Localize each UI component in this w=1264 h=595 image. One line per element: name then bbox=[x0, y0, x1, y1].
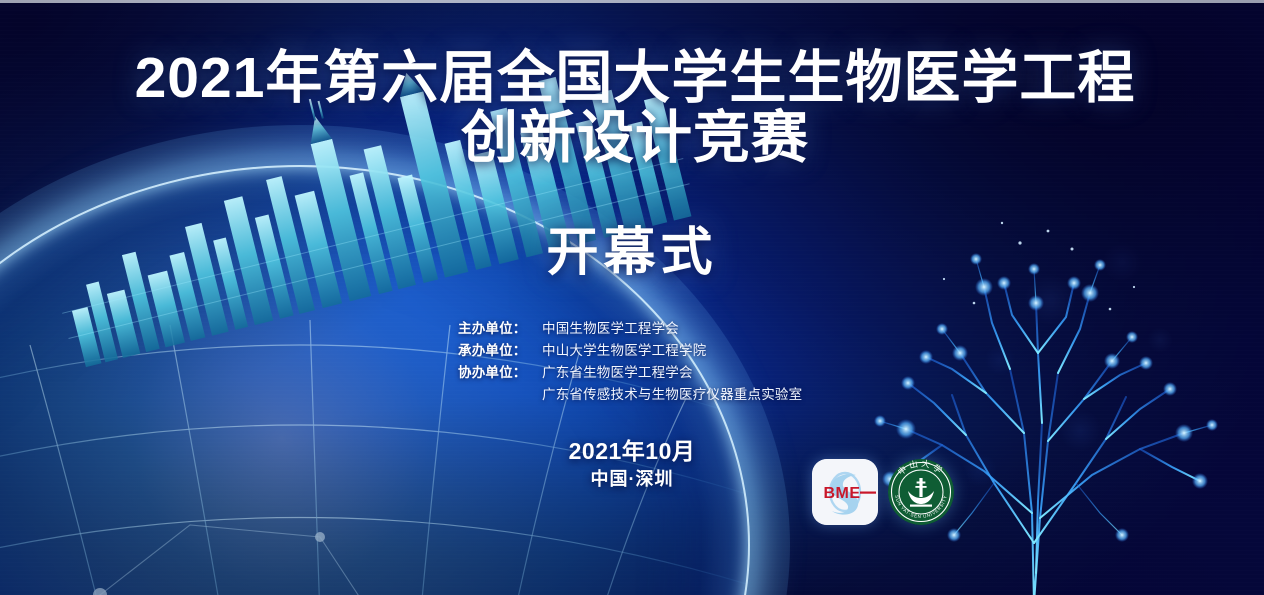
svg-text:BME: BME bbox=[823, 485, 860, 502]
event-place: 中国·深圳 bbox=[0, 466, 1264, 492]
bme-logo: BME bbox=[812, 459, 878, 525]
logo-group: BME 中山大学 SUN YAT-SEN UNIVERSITY bbox=[812, 459, 954, 525]
organizer-value-undertaker: 中山大学生物医学工程学院 bbox=[542, 340, 706, 361]
organizer-row-coorganizer-second: 广东省传感技术与生物医疗仪器重点实验室 bbox=[458, 384, 806, 405]
organizer-row-coorganizer: 协办单位： 广东省生物医学工程学会 bbox=[458, 362, 806, 383]
event-poster: 2021年第六届全国大学生生物医学工程 创新设计竞赛 开幕式 主办单位： 中国生… bbox=[0, 0, 1264, 595]
organizer-value-coorganizer-second: 广东省传感技术与生物医疗仪器重点实验室 bbox=[542, 384, 802, 405]
organizer-value-host: 中国生物医学工程学会 bbox=[542, 318, 679, 339]
organizer-label-undertaker: 承办单位： bbox=[458, 340, 542, 361]
title-line-2: 创新设计竞赛 bbox=[0, 108, 1264, 168]
organizer-label-host: 主办单位： bbox=[458, 318, 542, 339]
organizer-value-coorganizer: 广东省生物医学工程学会 bbox=[542, 362, 693, 383]
event-date: 2021年10月 bbox=[0, 437, 1264, 466]
organizer-row-host: 主办单位： 中国生物医学工程学会 bbox=[458, 318, 806, 339]
top-edge-strip bbox=[0, 0, 1264, 3]
poster-title: 2021年第六届全国大学生生物医学工程 创新设计竞赛 bbox=[0, 48, 1264, 168]
organizer-label-coorganizer: 协办单位： bbox=[458, 362, 542, 383]
poster-subtitle: 开幕式 bbox=[0, 222, 1264, 284]
organizer-list: 主办单位： 中国生物医学工程学会 承办单位： 中山大学生物医学工程学院 协办单位… bbox=[0, 318, 1264, 406]
title-line-1: 2021年第六届全国大学生生物医学工程 bbox=[0, 48, 1264, 108]
event-meta: 2021年10月 中国·深圳 bbox=[0, 437, 1264, 492]
sysu-logo: 中山大学 SUN YAT-SEN UNIVERSITY bbox=[888, 459, 954, 525]
organizer-row-undertaker: 承办单位： 中山大学生物医学工程学院 bbox=[458, 340, 806, 361]
